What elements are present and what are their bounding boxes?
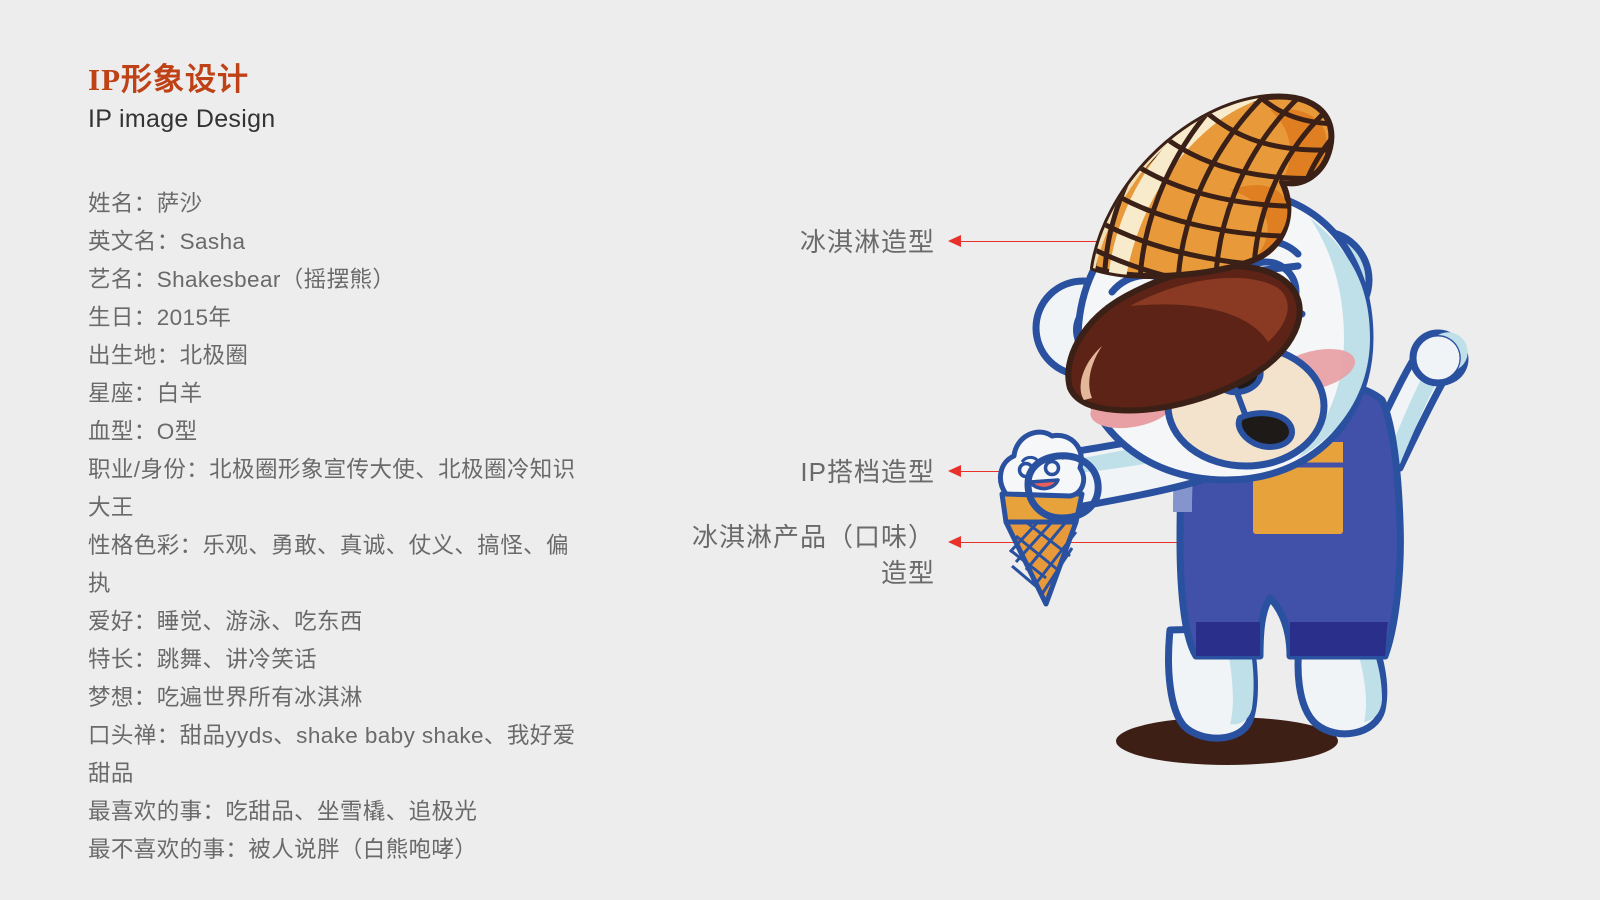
profile-line: 爱好：睡觉、游泳、吃东西: [88, 603, 588, 641]
character-profile-list: 姓名：萨沙 英文名：Sasha 艺名：Shakesbear（摇摆熊） 生日：20…: [88, 185, 588, 869]
mascot-illustration: [930, 70, 1490, 790]
profile-line: 血型：O型: [88, 413, 588, 451]
annotation-label-ip-partner: IP搭档造型: [620, 454, 935, 490]
profile-line: 职业/身份：北极圈形象宣传大使、北极圈冷知识大王: [88, 451, 588, 527]
profile-line: 英文名：Sasha: [88, 223, 588, 261]
profile-line: 星座：白羊: [88, 375, 588, 413]
profile-line: 最喜欢的事：吃甜品、坐雪橇、追极光: [88, 793, 588, 831]
profile-line: 艺名：Shakesbear（摇摆熊）: [88, 261, 588, 299]
header-block: IP形象设计 IP image Design: [88, 62, 608, 134]
annotation-label-ice-cream-hat: 冰淇淋造型: [620, 224, 935, 260]
profile-line: 最不喜欢的事：被人说胖（白熊咆哮）: [88, 831, 588, 869]
ip-design-poster: IP形象设计 IP image Design 姓名：萨沙 英文名：Sasha 艺…: [0, 0, 1600, 900]
profile-line: 特长：跳舞、讲冷笑话: [88, 641, 588, 679]
page-title-cn: IP形象设计: [88, 62, 608, 98]
mascot-mouth: [1239, 413, 1292, 447]
profile-line: 生日：2015年: [88, 299, 588, 337]
annotation-label-ice-cream-product: 冰淇淋产品（口味） 造型: [560, 519, 935, 591]
profile-line: 口头禅：甜品yyds、shake baby shake、我好爱甜品: [88, 717, 588, 793]
profile-line: 姓名：萨沙: [88, 185, 588, 223]
page-title-en: IP image Design: [88, 104, 608, 134]
profile-line: 性格色彩：乐观、勇敢、真诚、仗义、搞怪、偏执: [88, 527, 588, 603]
profile-line: 梦想：吃遍世界所有冰淇淋: [88, 679, 588, 717]
profile-line: 出生地：北极圈: [88, 337, 588, 375]
